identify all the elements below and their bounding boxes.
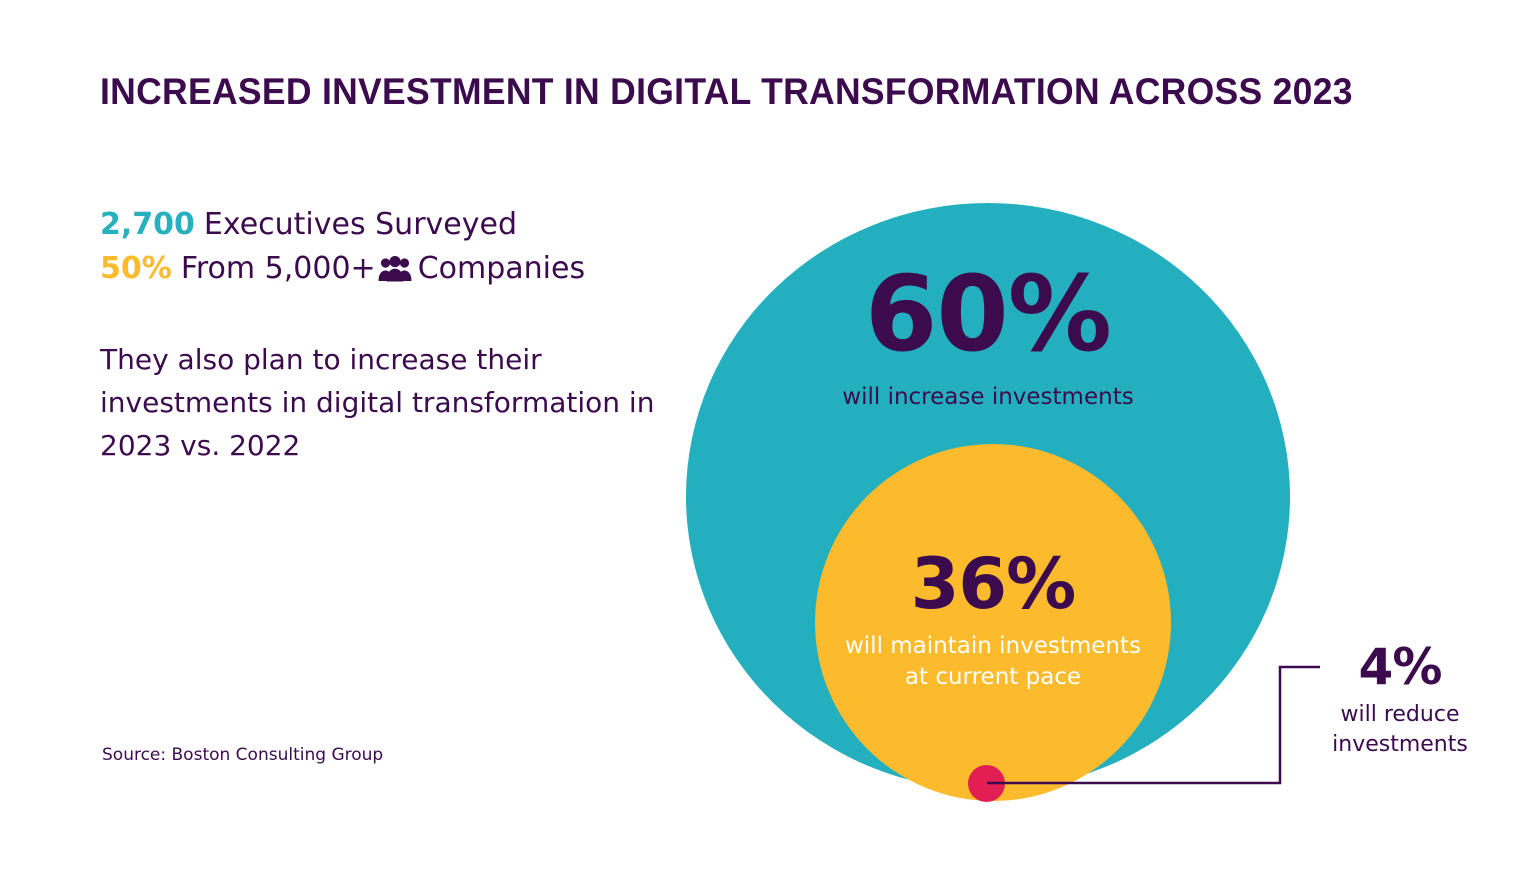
- maintain-caption-line1: will maintain investments: [815, 631, 1171, 662]
- companies-label-after: Companies: [418, 247, 585, 291]
- dot-reduce: [968, 765, 1005, 802]
- maintain-percent-caption: will maintain investments at current pac…: [815, 631, 1171, 693]
- reduce-callout: 4% will reduce investments: [1300, 640, 1500, 760]
- executives-count: 2,700: [100, 203, 195, 247]
- executives-label: Executives Surveyed: [204, 203, 517, 247]
- increase-percent-value: 60%: [686, 262, 1290, 366]
- survey-stats: 2,700 Executives Surveyed 50% From 5,000…: [100, 203, 660, 291]
- people-group-icon: [378, 256, 412, 282]
- inner-circle-label: 36% will maintain investments at current…: [815, 549, 1171, 693]
- reduce-percent-value: 4%: [1300, 640, 1500, 694]
- stat-line-executives: 2,700 Executives Surveyed: [100, 203, 660, 247]
- infographic-canvas: INCREASED INVESTMENT IN DIGITAL TRANSFOR…: [0, 0, 1536, 876]
- companies-label-before: From 5,000+: [181, 247, 376, 291]
- reduce-percent-caption: will reduce investments: [1300, 700, 1500, 760]
- reduce-caption-line1: will reduce: [1300, 700, 1500, 730]
- reduce-caption-line2: investments: [1300, 730, 1500, 760]
- description-paragraph: They also plan to increase their investm…: [100, 338, 660, 467]
- maintain-caption-line2: at current pace: [815, 662, 1171, 693]
- source-credit: Source: Boston Consulting Group: [102, 745, 383, 765]
- stat-line-companies: 50% From 5,000+ Companies: [100, 247, 660, 291]
- maintain-percent-value: 36%: [815, 549, 1171, 619]
- companies-percent: 50%: [100, 247, 172, 291]
- page-title: INCREASED INVESTMENT IN DIGITAL TRANSFOR…: [100, 72, 1290, 113]
- increase-percent-caption: will increase investments: [686, 382, 1290, 412]
- outer-circle-label: 60% will increase investments: [686, 262, 1290, 412]
